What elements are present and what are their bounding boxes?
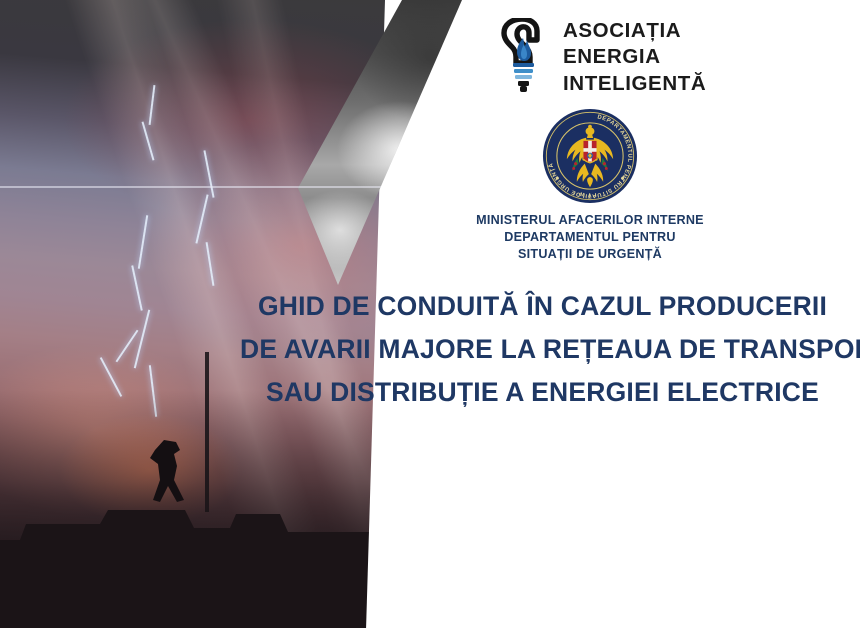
title-line-1: GHID DE CONDUITĂ ÎN CAZUL PRODUCERII [250,285,835,328]
ministry-line-2: DEPARTAMENTUL PENTRU [476,229,704,246]
ministry-name: MINISTERUL AFACERILOR INTERNE DEPARTAMEN… [476,212,704,263]
cover-page: ASOCIAȚIA ENERGIA INTELIGENTĂ DEPARTAMEN… [0,0,860,636]
title-line-3: SAU DISTRIBUȚIE A ENERGIEI ELECTRICE [250,371,835,414]
association-line-2: ENERGIA [563,44,706,69]
panel-seam-gray [280,186,480,188]
association-line-3: INTELIGENTĂ [563,71,706,96]
ministry-block: DEPARTAMENTUL PENTRU SITUAȚII DE URGENȚĂ… [460,108,720,268]
ministry-line-1: MINISTERUL AFACERILOR INTERNE [476,212,704,229]
page-title: GHID DE CONDUITĂ ÎN CAZUL PRODUCERII DE … [250,285,835,414]
dsu-mai-coat-of-arms-icon: DEPARTAMENTUL PENTRU SITUAȚII DE URGENȚĂ… [542,108,638,204]
association-name: ASOCIAȚIA ENERGIA INTELIGENTĂ [563,18,706,96]
title-line-2: DE AVARII MAJORE LA REȚEAUA DE TRANSPORT [240,328,835,371]
lightning-bolt-secondary-icon [178,150,248,340]
panel-seam [0,186,470,188]
bottom-white-margin [0,628,860,636]
lightbulb-flame-icon [497,18,549,96]
antenna-mast [205,352,209,512]
association-logo: ASOCIAȚIA ENERGIA INTELIGENTĂ [497,16,817,98]
ministry-line-3: SITUAȚII DE URGENȚĂ [476,246,704,263]
association-line-1: ASOCIAȚIA [563,18,706,43]
